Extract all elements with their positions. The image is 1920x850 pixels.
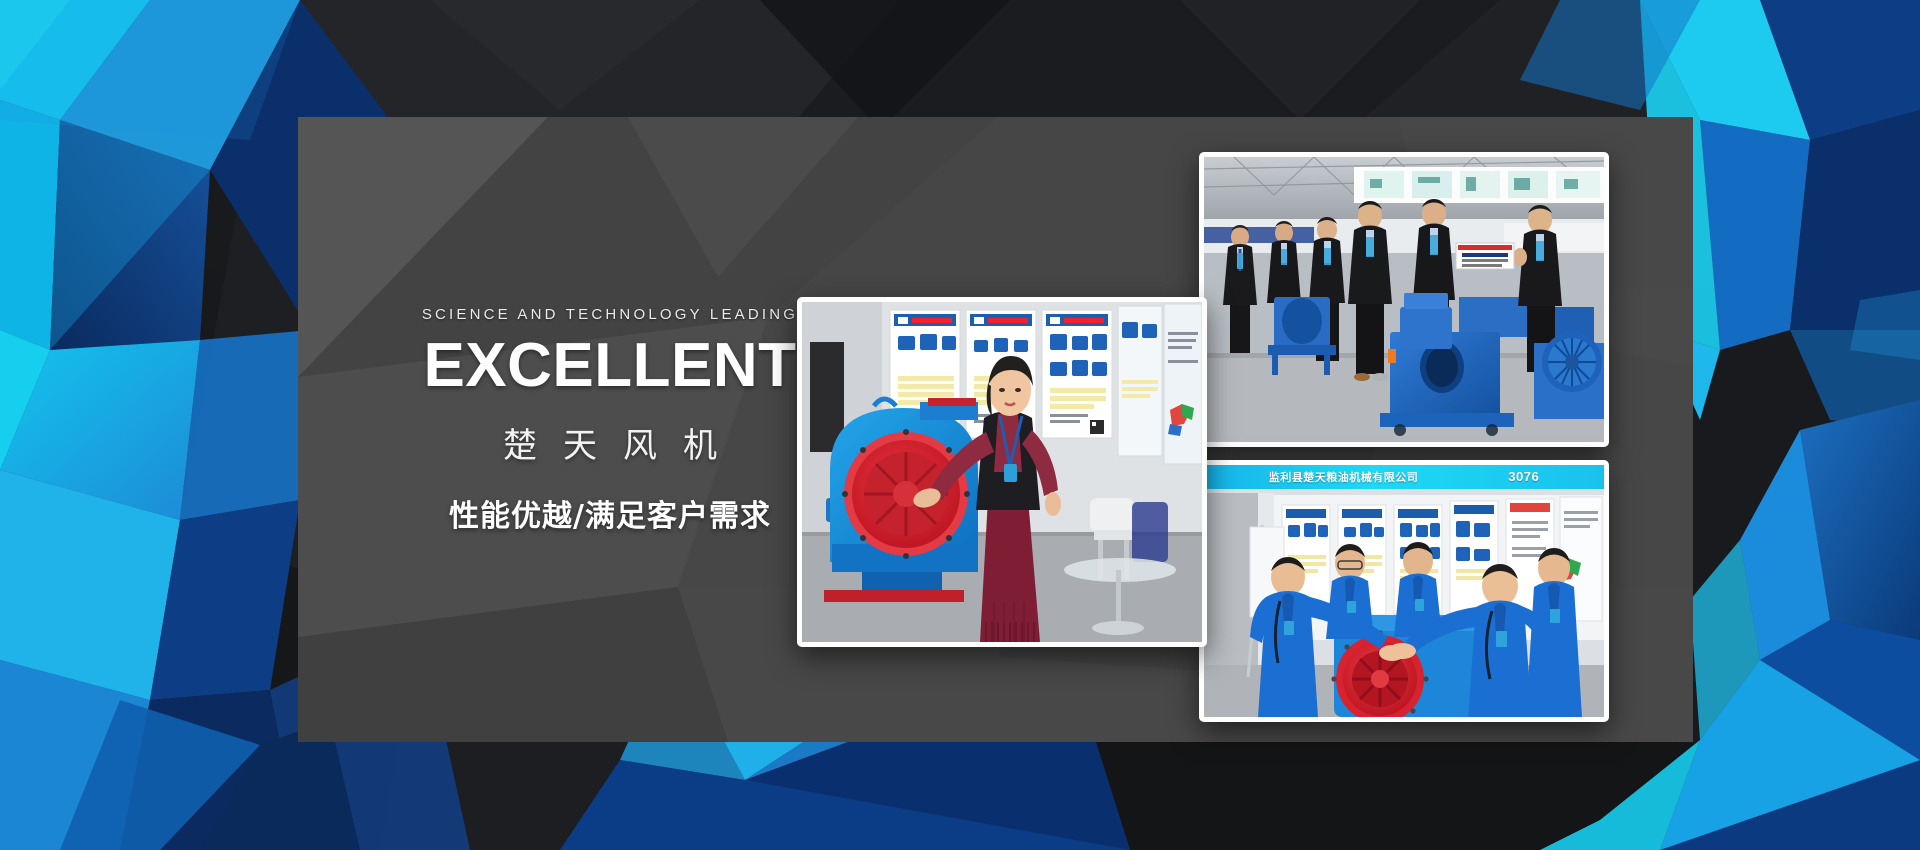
photo-image-team-suits <box>1204 157 1604 442</box>
photo-card-exhibition-team-suits[interactable] <box>1199 152 1609 447</box>
photo-image-team-blue-shirts: 监利县楚天粮油机械有限公司 3076 <box>1204 465 1604 717</box>
eyebrow-text: SCIENCE AND TECHNOLOGY LEADING <box>400 306 820 323</box>
hero-banner: SCIENCE AND TECHNOLOGY LEADING EXCELLENT… <box>0 0 1920 850</box>
slogan-cn: 性能优越/满足客户需求 <box>400 491 820 535</box>
headline-block: SCIENCE AND TECHNOLOGY LEADING EXCELLENT… <box>400 306 820 535</box>
booth-banner-number: 3076 <box>1508 469 1539 484</box>
booth-banner: 监利县楚天粮油机械有限公司 3076 <box>1204 465 1604 489</box>
page-title: EXCELLENT <box>400 337 820 396</box>
photo-card-exhibition-hostess-fan[interactable] <box>797 297 1207 647</box>
booth-banner-company: 监利县楚天粮油机械有限公司 <box>1269 469 1419 485</box>
brand-name-cn: 楚天风机 <box>400 418 820 467</box>
photo-card-exhibition-team-blue-shirts[interactable]: 监利县楚天粮油机械有限公司 3076 <box>1199 460 1609 722</box>
photo-image-hostess-fan <box>802 302 1202 642</box>
